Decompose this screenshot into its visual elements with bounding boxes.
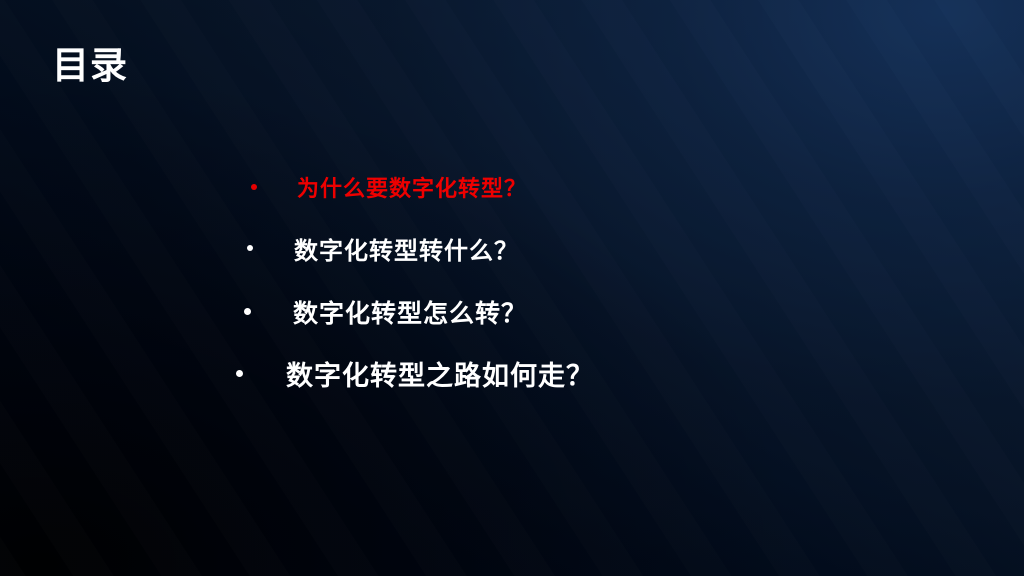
bullet-dot-icon [247, 245, 253, 251]
bullet-dot-icon [236, 370, 243, 377]
toc-item-label: 为什么要数字化转型？ [297, 171, 527, 203]
bullet-dot-icon [244, 308, 251, 315]
toc-item-1[interactable]: 为什么要数字化转型？ [0, 158, 1024, 216]
toc-item-2[interactable]: 数字化转型转什么？ [0, 216, 1024, 280]
bullet-dot-icon [251, 184, 257, 190]
toc-item-4[interactable]: 数字化转型之路如何走？ [0, 343, 1024, 403]
toc-item-label: 数字化转型之路如何走？ [286, 354, 594, 393]
page-title: 目录 [52, 44, 128, 88]
toc-item-label: 数字化转型怎么转？ [293, 294, 527, 330]
presentation-slide: 目录 为什么要数字化转型？ 数字化转型转什么？ 数字化转型怎么转？ 数字化转型之… [0, 0, 1024, 576]
toc-item-3[interactable]: 数字化转型怎么转？ [0, 280, 1024, 343]
table-of-contents: 为什么要数字化转型？ 数字化转型转什么？ 数字化转型怎么转？ 数字化转型之路如何… [0, 158, 1024, 403]
toc-item-label: 数字化转型转什么？ [294, 231, 519, 266]
